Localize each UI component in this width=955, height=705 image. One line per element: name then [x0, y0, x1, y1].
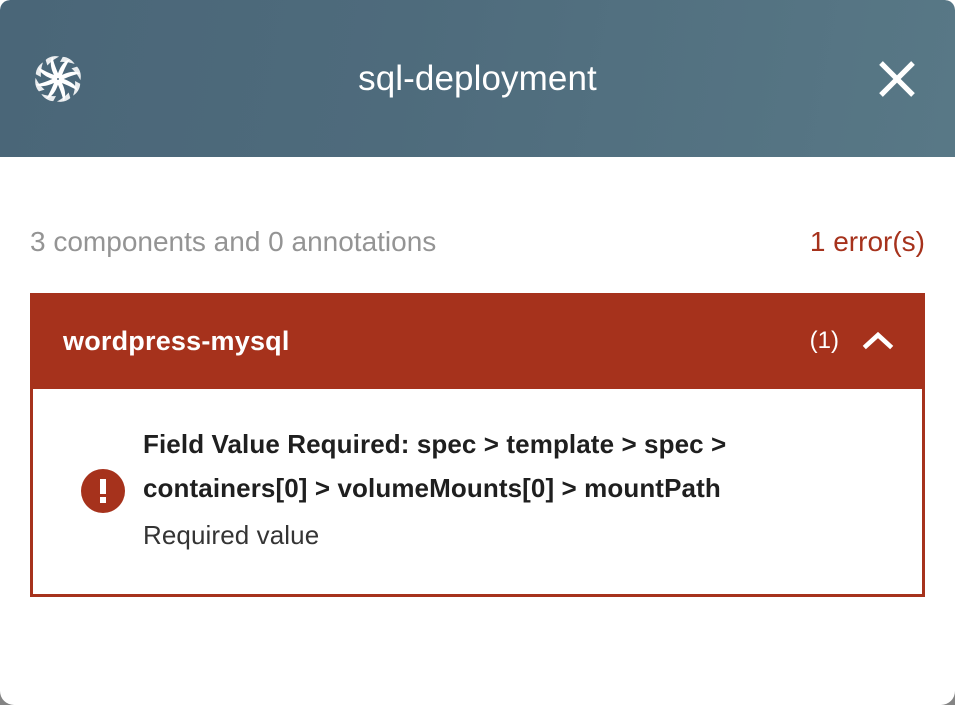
error-count-label: 1 error(s) [810, 228, 925, 256]
error-group-title: wordpress-mysql [63, 328, 810, 355]
error-group-header[interactable]: wordpress-mysql (1) [30, 293, 925, 389]
error-exclamation-icon [71, 469, 115, 513]
chevron-up-icon [861, 324, 895, 358]
modal-corner-shadow-left [0, 679, 26, 705]
components-summary-label: 3 components and 0 annotations [30, 228, 436, 256]
error-group-body: Field Value Required: spec > template > … [30, 389, 925, 597]
error-group-collapse-toggle[interactable] [861, 324, 895, 358]
error-message-title: Field Value Required: spec > template > … [143, 423, 763, 510]
modal-corner-shadow-right [929, 679, 955, 705]
page-title: sql-deployment [0, 61, 955, 96]
close-x-icon [872, 54, 922, 104]
modal-header: sql-deployment [0, 0, 955, 157]
modal-body: 3 components and 0 annotations 1 error(s… [0, 157, 955, 597]
error-message-detail: Required value [143, 514, 894, 558]
summary-row: 3 components and 0 annotations 1 error(s… [30, 157, 925, 272]
validation-results-modal: sql-deployment 3 components and 0 annota… [0, 0, 955, 705]
error-group-count: (1) [810, 329, 839, 353]
close-button[interactable] [871, 53, 923, 105]
error-group-wordpress-mysql: wordpress-mysql (1) [30, 293, 925, 597]
error-message-block: Field Value Required: spec > template > … [143, 423, 894, 558]
monokle-pinwheel-logo-icon [30, 51, 86, 107]
